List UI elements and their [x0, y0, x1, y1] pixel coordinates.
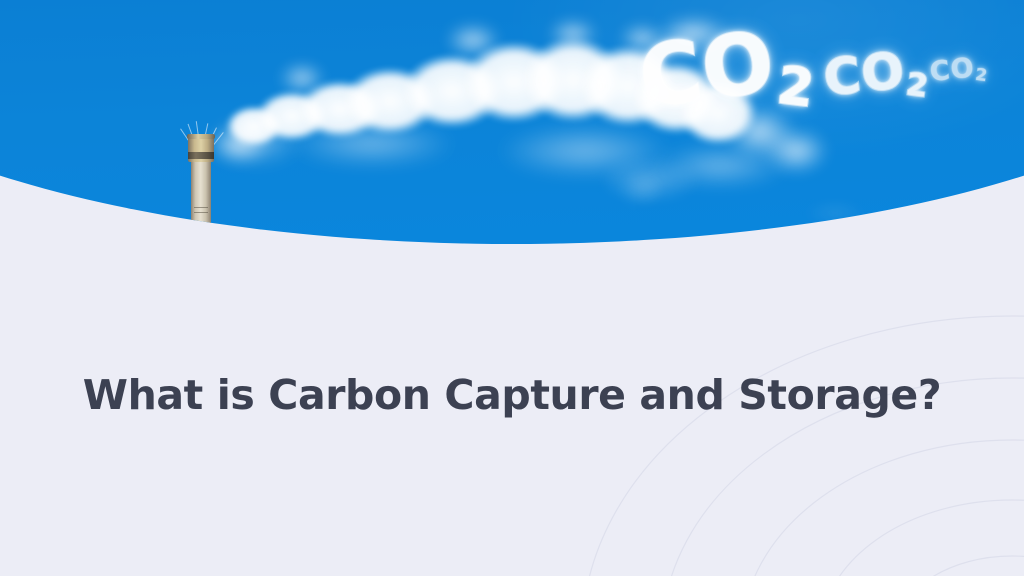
smoke-wisp [630, 140, 810, 192]
smoke-puff [436, 18, 510, 62]
cloud-text-co2-small: CO2 [928, 51, 989, 90]
smoke-wisp [262, 116, 482, 172]
smoke-plume [0, 0, 1024, 250]
smokestack-rim [187, 134, 215, 139]
smoke-puff [540, 14, 606, 54]
slide-root: CO2 CO2 CO2 What is Carbon Capture and S… [0, 0, 1024, 576]
hero-image: CO2 CO2 CO2 [0, 0, 1024, 250]
smokestack-markings [194, 204, 208, 216]
cloud-text-co2-medium: CO2 [821, 39, 931, 113]
hero-image-clip: CO2 CO2 CO2 [0, 0, 1024, 250]
ring-5 [894, 556, 1024, 576]
title-container: What is Carbon Capture and Storage? [0, 372, 1024, 419]
smokestack-band [188, 152, 214, 159]
smoke-puff [272, 58, 332, 98]
cloud-text-co2-large: CO2 [634, 8, 818, 136]
ring-3 [742, 440, 1024, 576]
page-title: What is Carbon Capture and Storage? [83, 372, 941, 419]
ring-1 [582, 316, 1024, 576]
ring-4 [820, 500, 1024, 576]
smokestack [186, 134, 216, 250]
